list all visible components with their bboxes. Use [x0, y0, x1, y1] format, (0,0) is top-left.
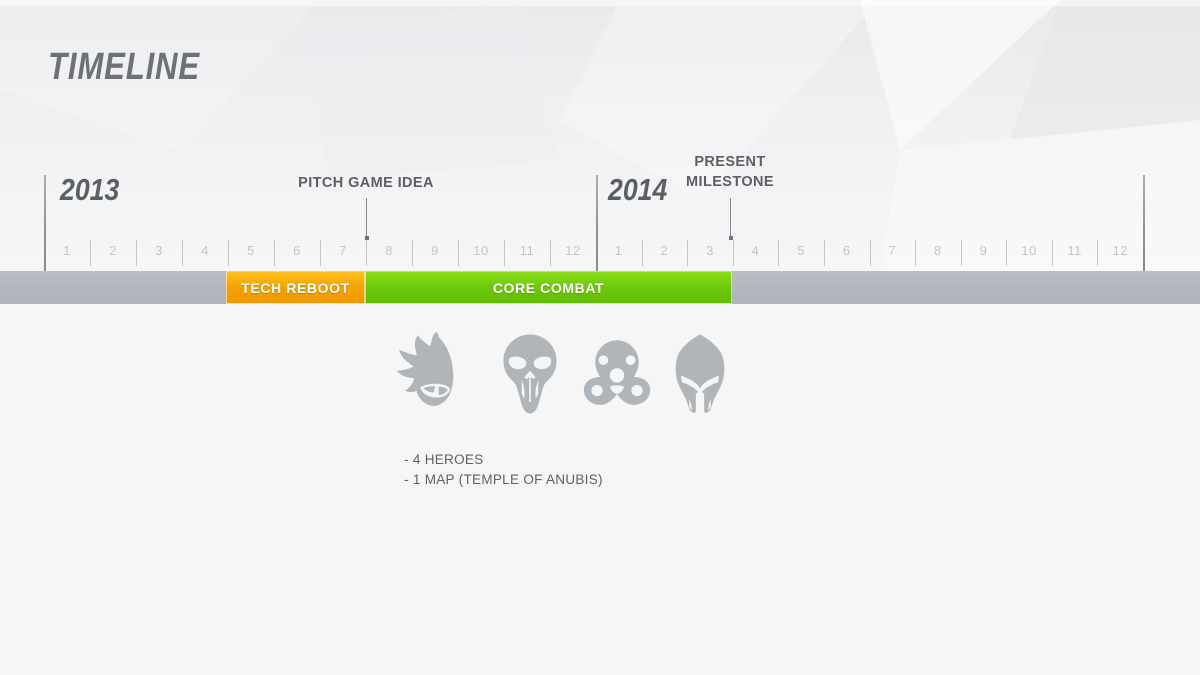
marker-dot-present-milestone[interactable] [729, 236, 733, 240]
month-tick [642, 240, 643, 266]
phase-label-tech-reboot: TECH REBOOT [241, 280, 350, 296]
month-label-2014-5: 5 [781, 243, 821, 258]
month-label-2014-1: 1 [599, 243, 639, 258]
month-tick [136, 240, 137, 266]
month-tick [504, 240, 505, 266]
month-label-2014-7: 7 [872, 243, 912, 258]
tracer-hero-icon [395, 332, 479, 416]
month-tick [550, 240, 551, 266]
month-tick [1052, 240, 1053, 266]
content-notes: - 4 HEROES - 1 MAP (TEMPLE OF ANUBIS) [404, 450, 603, 490]
month-label-2014-2: 2 [644, 243, 684, 258]
month-label-2014-11: 11 [1055, 243, 1095, 258]
month-label-2014-10: 10 [1009, 243, 1049, 258]
phase-bar-core-combat[interactable]: CORE COMBAT [365, 271, 732, 304]
month-tick [824, 240, 825, 266]
genji-hero-icon [671, 332, 729, 416]
month-label-2013-8: 8 [369, 243, 409, 258]
marker-line-pitch-game-idea [366, 198, 367, 240]
month-tick [458, 240, 459, 266]
month-tick [1097, 240, 1098, 266]
month-label-2013-4: 4 [185, 243, 225, 258]
month-tick [961, 240, 962, 266]
month-tick [90, 240, 91, 266]
month-label-2014-3: 3 [690, 243, 730, 258]
month-label-2013-1: 1 [47, 243, 87, 258]
month-label-2014-9: 9 [963, 243, 1003, 258]
month-label-2013-12: 12 [553, 243, 593, 258]
month-tick [870, 240, 871, 266]
month-tick [228, 240, 229, 266]
month-tick [687, 240, 688, 266]
phase-bar-tech-reboot[interactable]: TECH REBOOT [226, 271, 365, 304]
phase-label-core-combat: CORE COMBAT [493, 280, 604, 296]
month-tick [778, 240, 779, 266]
month-label-2014-8: 8 [918, 243, 958, 258]
note-line-map: - 1 MAP (TEMPLE OF ANUBIS) [404, 470, 603, 490]
month-label-2013-5: 5 [231, 243, 271, 258]
month-tick [412, 240, 413, 266]
month-label-2013-10: 10 [461, 243, 501, 258]
month-label-2013-11: 11 [507, 243, 547, 258]
month-tick [274, 240, 275, 266]
marker-line-present-milestone [730, 198, 731, 240]
reaper-hero-icon [497, 332, 563, 416]
roadhog-hero-icon [581, 338, 653, 416]
marker-label-pitch-game-idea: PITCH GAME IDEA [216, 173, 516, 193]
marker-label-present-milestone: PRESENT MILESTONE [580, 152, 880, 192]
month-label-2013-9: 9 [415, 243, 455, 258]
month-label-2013-7: 7 [323, 243, 363, 258]
marker-dot-pitch-game-idea[interactable] [365, 236, 369, 240]
month-ruler: 123456789101112123456789101112 [0, 240, 1200, 272]
month-tick [366, 240, 367, 266]
hero-icon-row [395, 332, 729, 416]
year-label-2013: 2013 [60, 172, 119, 208]
month-label-2014-4: 4 [736, 243, 776, 258]
month-tick [320, 240, 321, 266]
month-tick [733, 240, 734, 266]
month-label-2013-2: 2 [93, 243, 133, 258]
month-label-2013-6: 6 [277, 243, 317, 258]
month-tick [915, 240, 916, 266]
month-label-2013-3: 3 [139, 243, 179, 258]
month-tick [182, 240, 183, 266]
month-label-2014-6: 6 [827, 243, 867, 258]
month-label-2014-12: 12 [1100, 243, 1140, 258]
month-tick [1006, 240, 1007, 266]
note-line-heroes: - 4 HEROES [404, 450, 603, 470]
timeline-slide: TIMELINE 2013 2014 123456789101112123456… [0, 0, 1200, 675]
